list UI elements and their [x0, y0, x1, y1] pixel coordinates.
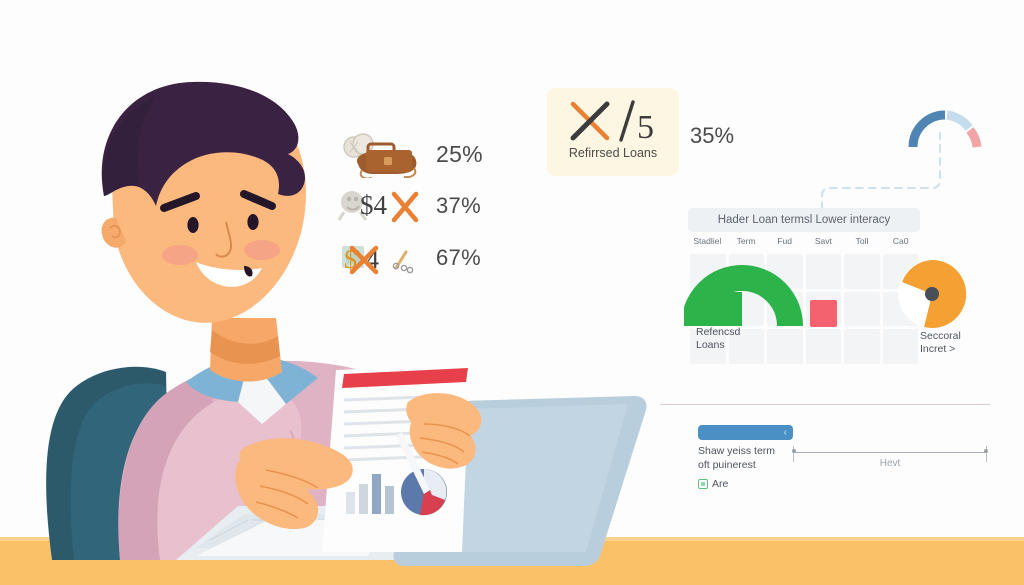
- panel-header: Hader Loan termsl Lower interacy: [688, 208, 920, 232]
- column-label: Savt: [804, 236, 843, 246]
- axis-label: Hevt: [793, 458, 987, 469]
- column-label: Toll: [843, 236, 882, 246]
- gauge-segment-lightblue: [947, 115, 969, 128]
- term-toggle-pill[interactable]: ‹: [698, 425, 793, 440]
- status-badge[interactable]: Are: [698, 478, 728, 490]
- metric-row: $4 37%: [338, 180, 518, 232]
- refinanced-loans-arc: [684, 250, 808, 328]
- grid-cell: [844, 292, 880, 327]
- red-indicator-square: [810, 300, 837, 327]
- timeline-axis[interactable]: Hevt: [793, 446, 993, 478]
- refinance-percentage: 35%: [690, 123, 734, 149]
- sectoral-interest-pie: [888, 250, 976, 338]
- axis-endpoint-left: [792, 449, 796, 453]
- section-divider: [660, 404, 990, 405]
- illustration-canvas: 25% $4 37% $: [0, 0, 1024, 585]
- pie-label-line1: Seccoral: [920, 330, 961, 342]
- arc-label: Refencsd Loans: [696, 326, 766, 352]
- arc-fill-block: [694, 292, 742, 326]
- refinanced-loans-card[interactable]: 5 Refirrsed Loans: [547, 88, 679, 176]
- column-label: Fud: [765, 236, 804, 246]
- pie-label-line2: Incret >: [920, 343, 955, 355]
- svg-text:$4: $4: [360, 190, 388, 220]
- panel-header-text: Hader Loan termsl Lower interacy: [718, 214, 891, 226]
- term-description: Shaw yeiss term oft puinerest: [698, 444, 802, 472]
- panel-column-labels: Stadliel Term Fud Savt Toll Ca0: [688, 236, 920, 246]
- column-label: Term: [727, 236, 766, 246]
- grid-cell: [767, 329, 803, 364]
- metric-list: 25% $4 37% $: [338, 128, 518, 284]
- briefcase-coins-icon: [338, 130, 436, 178]
- metric-value: 25%: [436, 141, 483, 168]
- pie-label: Seccoral Incret >: [920, 330, 990, 356]
- x-slash-five-icon: 5: [547, 94, 679, 146]
- eye-left: [187, 217, 198, 233]
- blush-right: [244, 240, 280, 260]
- axis-endpoint-right: [984, 449, 988, 453]
- chevron-icon: ‹: [784, 426, 787, 439]
- card-label: Refirrsed Loans: [547, 146, 679, 160]
- arc-label-line1: Refencsd: [696, 326, 740, 338]
- loan-terms-panel: Hader Loan termsl Lower interacy Stadlie…: [688, 208, 920, 374]
- column-label: Stadliel: [688, 236, 727, 246]
- metric-row: $ 4 67%: [338, 232, 518, 284]
- metric-row: 25%: [338, 128, 518, 180]
- column-label: Ca0: [881, 236, 920, 246]
- axis-line: [793, 452, 987, 453]
- grid-cell: [806, 254, 842, 289]
- dollar-x-icon: $4: [338, 182, 436, 230]
- term-description-line2: oft puinerest: [698, 459, 756, 471]
- arc-label-line2: Loans: [696, 339, 725, 351]
- term-description-line1: Shaw yeiss term: [698, 445, 775, 457]
- card-value: 5: [637, 109, 654, 146]
- blush-left: [162, 245, 198, 265]
- grid-cell: [844, 254, 880, 289]
- dollar-permille-icon: $ 4: [338, 234, 436, 282]
- metric-value: 37%: [436, 193, 481, 219]
- grid-cell: [806, 329, 842, 364]
- grid-cell: [844, 329, 880, 364]
- eye-right: [247, 214, 258, 230]
- badge-label: Are: [712, 478, 728, 490]
- pie-center-dot: [925, 287, 939, 301]
- metric-value: 67%: [436, 245, 481, 271]
- check-square-icon: [698, 479, 708, 489]
